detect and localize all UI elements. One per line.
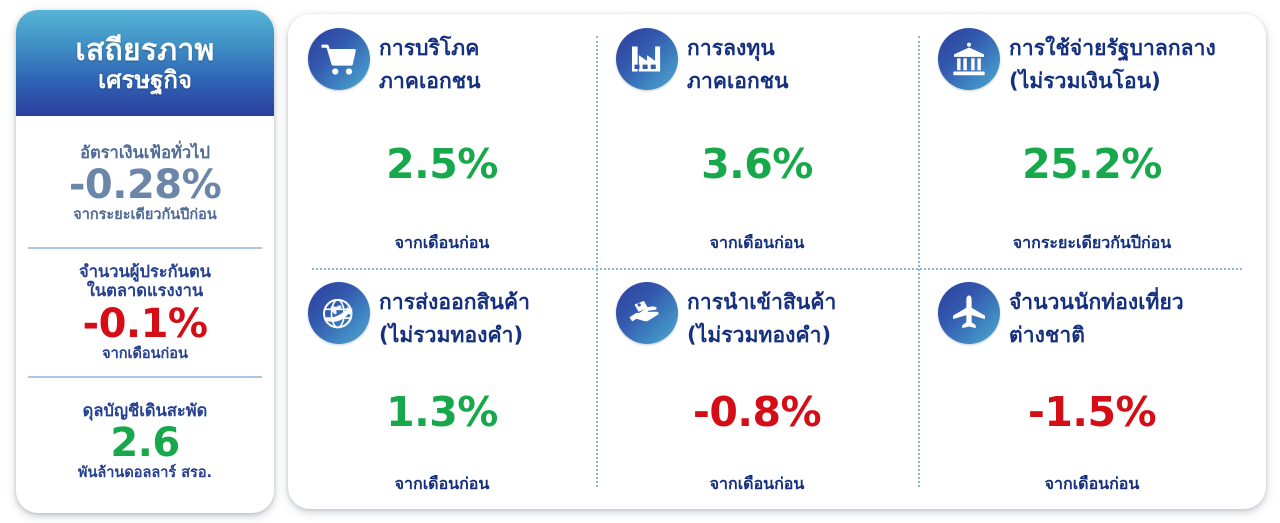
indicator-title-line2: (ไม่รวมทองคำ) (379, 319, 530, 352)
indicator-card-government-spending: การใช้จ่ายรัฐบาลกลาง (ไม่รวมเงินโอน) 25.… (918, 14, 1266, 268)
indicator-header: การใช้จ่ายรัฐบาลกลาง (ไม่รวมเงินโอน) (926, 28, 1258, 98)
indicators-grid: การบริโภค ภาคเอกชน 2.5% จากเดือนก่อน (288, 14, 1266, 509)
economic-stability-panel: เสถียรภาพ เศรษฐกิจ อัตราเงินเฟ้อทั่วไป -… (16, 10, 274, 513)
indicator-title-line2: ภาคเอกชน (687, 65, 789, 98)
indicator-title-line2: ต่างชาติ (1009, 319, 1184, 352)
stability-title-line2: เศรษฐกิจ (98, 67, 192, 95)
indicator-title-line1: การลงทุน (687, 32, 789, 65)
indicator-note: จากเดือนก่อน (604, 472, 910, 499)
indicator-note: จากเดือนก่อน (296, 472, 588, 499)
indicator-note: จากเดือนก่อน (926, 472, 1258, 499)
indicator-value: -0.8% (604, 392, 910, 433)
indicator-value: -1.5% (926, 392, 1258, 433)
stat-current-account: ดุลบัญชีเดินสะพัด 2.6 พันล้านดอลลาร์ สรอ… (28, 376, 262, 505)
stat-inflation-label: อัตราเงินเฟ้อทั่วไป (80, 143, 210, 162)
indicator-title-line1: การใช้จ่ายรัฐบาลกลาง (1009, 32, 1216, 65)
indicator-card-private-consumption: การบริโภค ภาคเอกชน 2.5% จากเดือนก่อน (288, 14, 596, 268)
stability-panel-header: เสถียรภาพ เศรษฐกิจ (16, 10, 274, 116)
stat-inflation: อัตราเงินเฟ้อทั่วไป -0.28% จากระยะเดียวก… (28, 120, 262, 247)
indicator-card-foreign-tourists: จำนวนนักท่องเที่ยว ต่างชาติ -1.5% จากเดื… (918, 268, 1266, 509)
indicator-header: การส่งออกสินค้า (ไม่รวมทองคำ) (296, 282, 588, 352)
grid-divider-vertical-2 (918, 36, 920, 487)
indicator-title-line1: การบริโภค (379, 32, 481, 65)
indicator-card-private-investment: การลงทุน ภาคเอกชน 3.6% จากเดือนก่อน (596, 14, 918, 268)
indicator-header: การบริโภค ภาคเอกชน (296, 28, 588, 98)
indicator-title-line1: การนำเข้าสินค้า (687, 286, 836, 319)
stat-insured-labor-value: -0.1% (82, 303, 207, 345)
indicator-value: 1.3% (296, 392, 588, 433)
grid-divider-horizontal (312, 268, 1242, 270)
indicator-header: จำนวนนักท่องเที่ยว ต่างชาติ (926, 282, 1258, 352)
infographic-root: เสถียรภาพ เศรษฐกิจ อัตราเงินเฟ้อทั่วไป -… (0, 0, 1280, 523)
indicator-title-line2: (ไม่รวมเงินโอน) (1009, 65, 1216, 98)
indicator-note: จากระยะเดียวกันปีก่อน (926, 231, 1258, 258)
indicator-title: การนำเข้าสินค้า (ไม่รวมทองคำ) (687, 282, 836, 352)
airplane-icon (938, 282, 1000, 344)
grid-divider-vertical-1 (596, 36, 598, 487)
government-bank-icon (938, 28, 1000, 90)
stat-inflation-value: -0.28% (69, 164, 221, 206)
indicator-title-line1: การส่งออกสินค้า (379, 286, 530, 319)
stat-inflation-note: จากระยะเดียวกันปีก่อน (73, 207, 217, 224)
stat-insured-labor-note: จากเดือนก่อน (102, 346, 188, 363)
indicator-title-line2: ภาคเอกชน (379, 65, 481, 98)
indicator-header: การลงทุน ภาคเอกชน (604, 28, 910, 98)
indicator-title: จำนวนนักท่องเที่ยว ต่างชาติ (1009, 282, 1184, 352)
indicator-value: 3.6% (604, 144, 910, 185)
indicator-card-exports: การส่งออกสินค้า (ไม่รวมทองคำ) 1.3% จากเด… (288, 268, 596, 509)
factory-icon (616, 28, 678, 90)
stat-current-account-note: พันล้านดอลลาร์ สรอ. (78, 465, 212, 482)
indicator-note: จากเดือนก่อน (604, 231, 910, 258)
shopping-cart-icon (308, 28, 370, 90)
stat-insured-labor-label-line1: จำนวนผู้ประกันตน (79, 262, 211, 281)
hand-money-import-icon (616, 282, 678, 344)
indicator-title: การบริโภค ภาคเอกชน (379, 28, 481, 98)
stability-title-line1: เสถียรภาพ (75, 35, 214, 67)
stat-current-account-value: 2.6 (110, 422, 179, 464)
globe-airplane-export-icon (308, 282, 370, 344)
indicator-card-imports: การนำเข้าสินค้า (ไม่รวมทองคำ) -0.8% จากเ… (596, 268, 918, 509)
indicator-value: 2.5% (296, 144, 588, 185)
stat-insured-labor: จำนวนผู้ประกันตน ในตลาดแรงงาน -0.1% จากเ… (28, 247, 262, 376)
indicator-note: จากเดือนก่อน (296, 231, 588, 258)
indicator-title-line2: (ไม่รวมทองคำ) (687, 319, 836, 352)
economic-indicators-panel: การบริโภค ภาคเอกชน 2.5% จากเดือนก่อน (288, 14, 1266, 509)
stat-current-account-label: ดุลบัญชีเดินสะพัด (83, 401, 208, 420)
indicator-title-line1: จำนวนนักท่องเที่ยว (1009, 286, 1184, 319)
indicator-header: การนำเข้าสินค้า (ไม่รวมทองคำ) (604, 282, 910, 352)
indicator-title: การส่งออกสินค้า (ไม่รวมทองคำ) (379, 282, 530, 352)
indicator-value: 25.2% (926, 144, 1258, 185)
stability-panel-body: อัตราเงินเฟ้อทั่วไป -0.28% จากระยะเดียวก… (16, 116, 274, 513)
indicator-title: การลงทุน ภาคเอกชน (687, 28, 789, 98)
indicator-title: การใช้จ่ายรัฐบาลกลาง (ไม่รวมเงินโอน) (1009, 28, 1216, 98)
stat-insured-labor-label-line2: ในตลาดแรงงาน (87, 281, 203, 300)
